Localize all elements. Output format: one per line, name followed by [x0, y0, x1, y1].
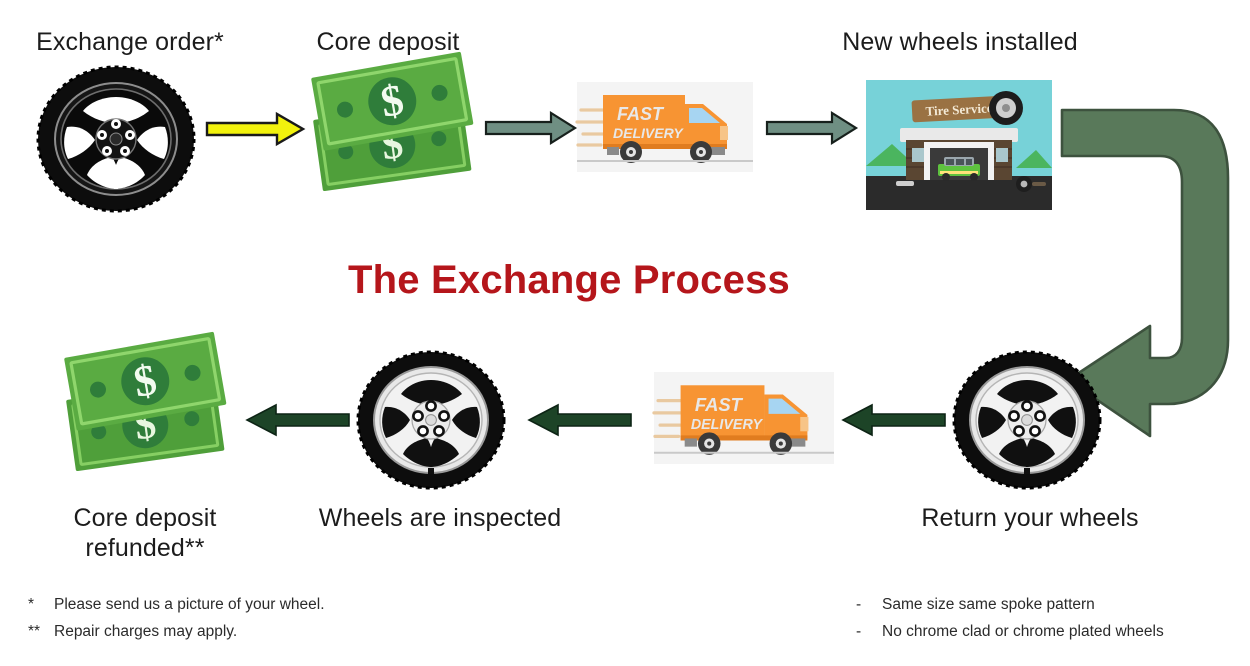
- arrow-order-to-deposit: [205, 112, 305, 146]
- fast-delivery-truck-icon-top: FAST DELIVERY: [577, 82, 753, 172]
- footnotes-right: - Same size same spoke pattern - No chro…: [856, 592, 1164, 645]
- footnote-marker: -: [856, 619, 882, 646]
- footnote-text: Please send us a picture of your wheel.: [54, 592, 325, 619]
- black-alloy-wheel-icon: [35, 65, 197, 213]
- arrow-return-to-truck: [842, 404, 946, 436]
- footnote-right-2: - No chrome clad or chrome plated wheels: [856, 619, 1164, 646]
- footnote-marker: -: [856, 592, 882, 619]
- arrow-truck-to-inspected: [528, 404, 632, 436]
- tire-service-shop-icon: Tire Service: [866, 80, 1052, 210]
- footnote-text: Repair charges may apply.: [54, 619, 237, 646]
- silver-alloy-wheel-icon-return: [952, 350, 1102, 490]
- footnote-marker: **: [28, 619, 54, 646]
- cash-money-icon-bottom: $ $: [58, 348, 238, 488]
- footnote-text: No chrome clad or chrome plated wheels: [882, 619, 1164, 646]
- arrow-deposit-to-truck: [485, 112, 577, 144]
- footnote-text: Same size same spoke pattern: [882, 592, 1095, 619]
- label-new-wheels-installed: New wheels installed: [800, 28, 1120, 58]
- label-core-deposit-refunded: Core deposit refunded**: [30, 504, 260, 563]
- truck-text-line1: FAST: [695, 394, 744, 415]
- footnote-marker: *: [28, 592, 54, 619]
- label-exchange-order: Exchange order*: [10, 28, 250, 58]
- arrow-truck-to-shop: [766, 112, 858, 144]
- page-title: The Exchange Process: [348, 258, 790, 303]
- label-return-your-wheels: Return your wheels: [890, 504, 1170, 534]
- truck-text-line1: FAST: [617, 104, 665, 124]
- footnote-left-2: ** Repair charges may apply.: [28, 619, 325, 646]
- truck-text-line2: DELIVERY: [613, 125, 684, 141]
- label-wheels-are-inspected: Wheels are inspected: [300, 504, 580, 534]
- truck-text-line2: DELIVERY: [691, 417, 764, 433]
- footnote-right-1: - Same size same spoke pattern: [856, 592, 1164, 619]
- silver-alloy-wheel-icon-inspected: [356, 350, 506, 490]
- arrow-inspected-to-refund: [246, 404, 350, 436]
- exchange-process-diagram: Exchange order* Core deposit New wheels …: [0, 0, 1250, 666]
- cash-money-icon-top: $ $: [305, 68, 485, 208]
- footnotes-left: * Please send us a picture of your wheel…: [28, 592, 325, 645]
- fast-delivery-truck-icon-bottom: FAST DELIVERY: [654, 370, 834, 466]
- footnote-left-1: * Please send us a picture of your wheel…: [28, 592, 325, 619]
- label-core-deposit: Core deposit: [278, 28, 498, 58]
